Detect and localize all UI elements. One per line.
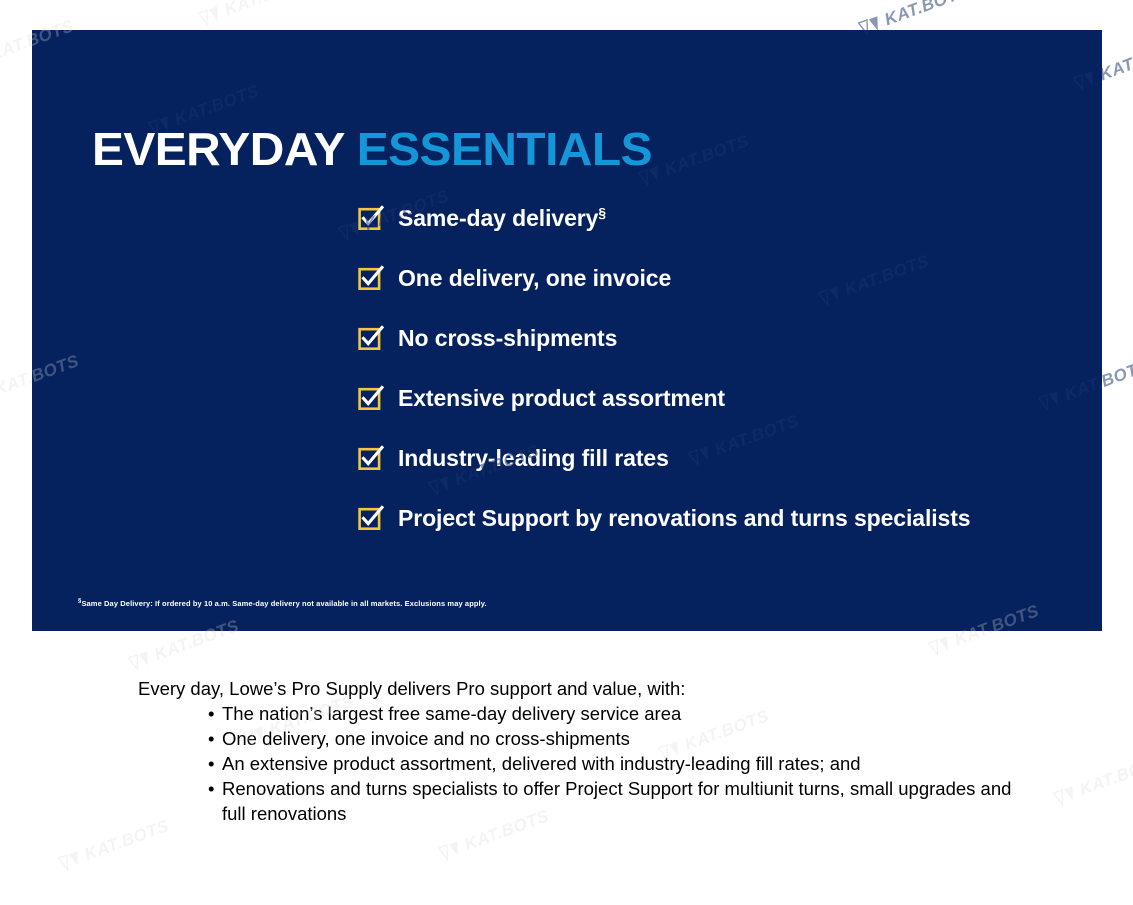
body-bullet-item: One delivery, one invoice and no cross-s… bbox=[208, 726, 1038, 751]
checklist: Same-day delivery§ One delivery, one inv… bbox=[358, 200, 1078, 560]
checklist-item: Industry-leading fill rates bbox=[358, 440, 1078, 500]
watermark-logo-icon bbox=[557, 0, 584, 3]
watermark-logo-icon bbox=[197, 4, 224, 28]
body-bullet-list: The nation’s largest free same-day deliv… bbox=[138, 701, 1038, 826]
watermark-logo-icon bbox=[127, 649, 154, 673]
checkbox-checked-icon bbox=[358, 445, 384, 471]
checklist-item: No cross-shipments bbox=[358, 320, 1078, 380]
checklist-item-label: Extensive product assortment bbox=[398, 380, 725, 416]
watermark: KAT.BOTS bbox=[557, 0, 672, 4]
watermark-text: KAT.BOTS bbox=[1097, 36, 1133, 85]
checklist-item-label: One delivery, one invoice bbox=[398, 260, 671, 296]
footnote-marker: § bbox=[598, 205, 606, 220]
slide-footnote: §Same Day Delivery: If ordered by 10 a.m… bbox=[78, 599, 487, 608]
checkbox-checked-icon bbox=[358, 385, 384, 411]
watermark-text: KAT.BOTS bbox=[1077, 751, 1133, 800]
checklist-item-label: Same-day delivery§ bbox=[398, 200, 606, 236]
checklist-item-label: Industry-leading fill rates bbox=[398, 440, 669, 476]
watermark-logo-icon bbox=[437, 839, 464, 863]
body-intro-text: Every day, Lowe’s Pro Supply delivers Pr… bbox=[138, 676, 1038, 701]
slide-panel: EVERYDAY ESSENTIALS Same-day delivery§ O… bbox=[32, 30, 1102, 631]
watermark-logo-icon bbox=[927, 634, 954, 658]
slide-title: EVERYDAY ESSENTIALS bbox=[92, 126, 652, 172]
slide-title-part1: EVERYDAY bbox=[92, 123, 344, 175]
watermark-text: KAT.BOTS bbox=[222, 0, 312, 20]
checklist-item: Extensive product assortment bbox=[358, 380, 1078, 440]
watermark-text: KAT.BOTS bbox=[882, 0, 972, 30]
watermark: KAT.BOTS bbox=[1052, 751, 1133, 809]
body-bullet-item: An extensive product assortment, deliver… bbox=[208, 751, 1038, 776]
checklist-item-label: Project Support by renovations and turns… bbox=[398, 500, 971, 536]
checkbox-checked-icon bbox=[358, 205, 384, 231]
checkbox-checked-icon bbox=[358, 505, 384, 531]
watermark-logo-icon bbox=[1052, 784, 1079, 808]
checklist-item-label: No cross-shipments bbox=[398, 320, 617, 356]
body-copy: Every day, Lowe’s Pro Supply delivers Pr… bbox=[138, 676, 1038, 826]
body-bullet-item: The nation’s largest free same-day deliv… bbox=[208, 701, 1038, 726]
checklist-item: Same-day delivery§ bbox=[358, 200, 1078, 260]
body-bullet-item: Renovations and turns specialists to off… bbox=[208, 776, 1038, 826]
watermark: KAT.BOTS bbox=[197, 0, 312, 29]
checkbox-checked-icon bbox=[358, 265, 384, 291]
slide-footnote-text: Same Day Delivery: If ordered by 10 a.m.… bbox=[81, 599, 486, 608]
checkbox-checked-icon bbox=[358, 325, 384, 351]
checklist-item: Project Support by renovations and turns… bbox=[358, 500, 1078, 560]
slide-title-part2: ESSENTIALS bbox=[357, 123, 652, 175]
watermark-logo-icon bbox=[57, 849, 84, 873]
checklist-item: One delivery, one invoice bbox=[358, 260, 1078, 320]
